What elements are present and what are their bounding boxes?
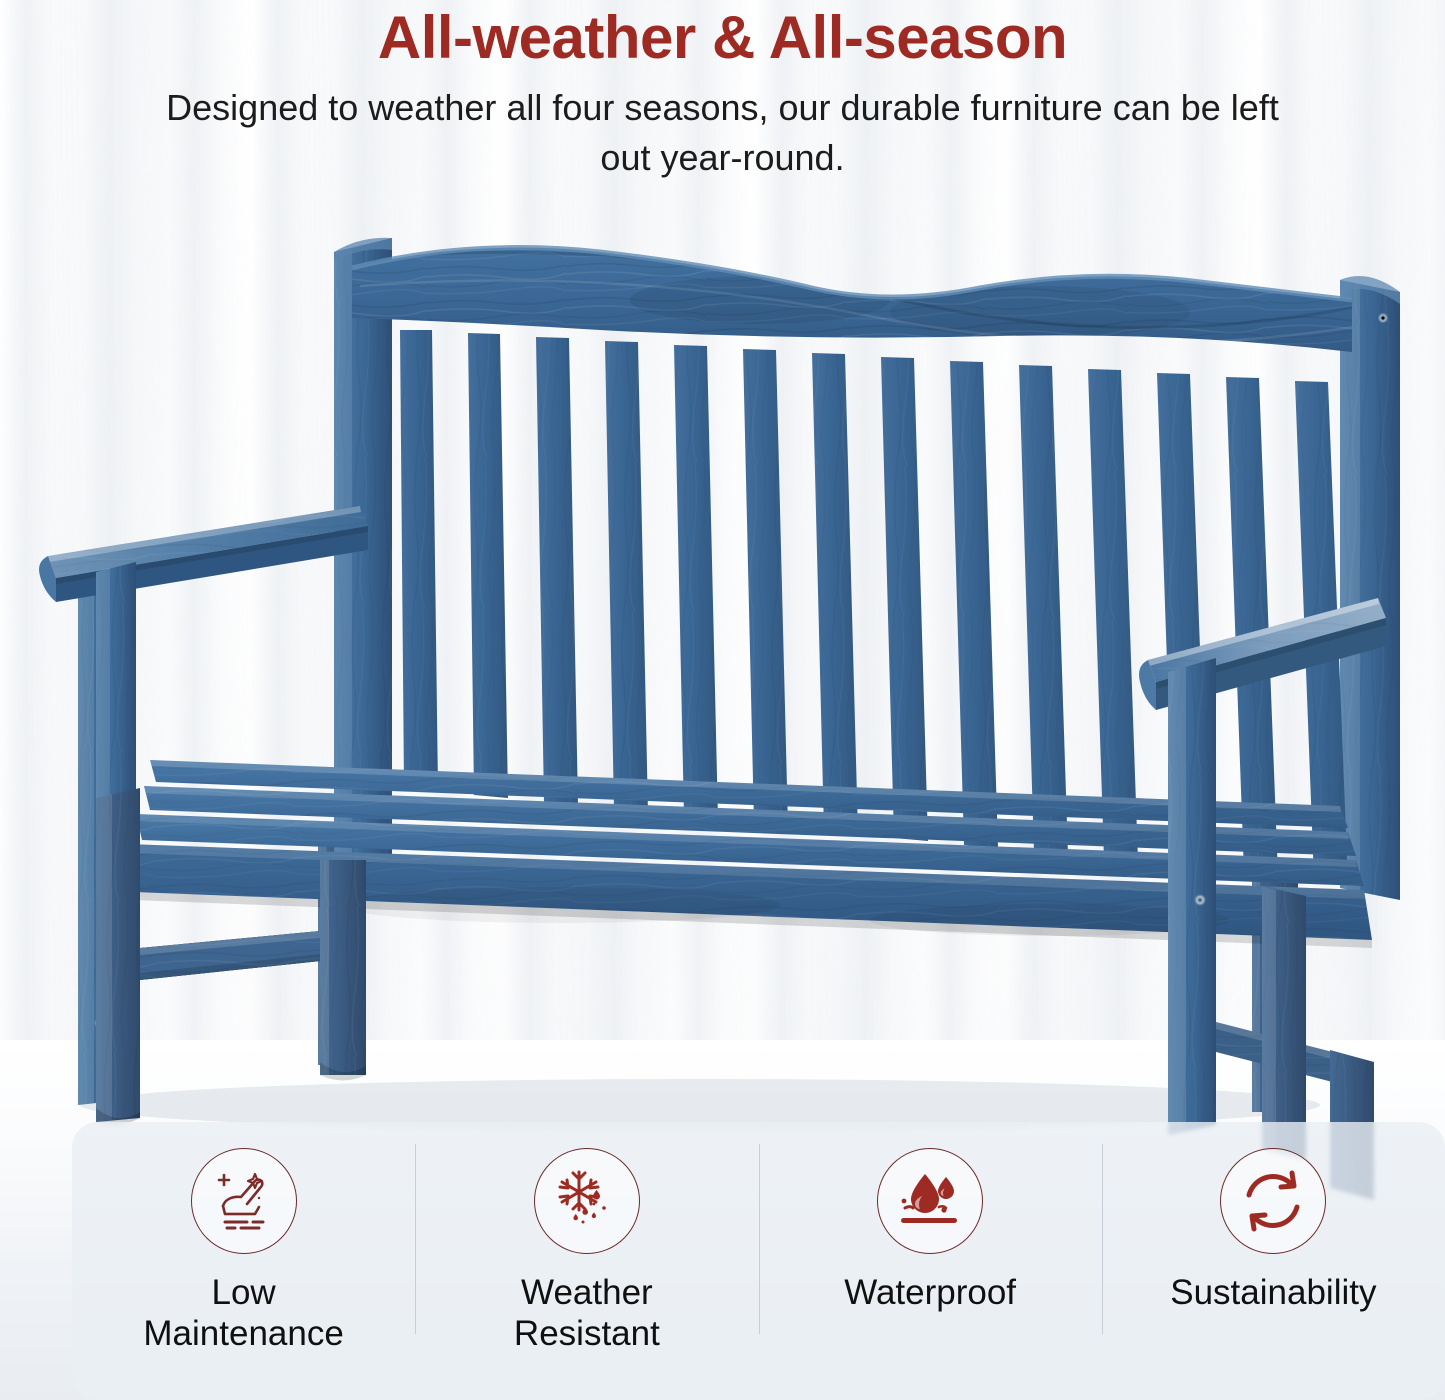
feature-label: Sustainability <box>1170 1272 1376 1313</box>
header-block: All-weather & All-season Designed to wea… <box>0 0 1445 182</box>
feature-label: Low Maintenance <box>143 1272 343 1355</box>
page-title: All-weather & All-season <box>0 0 1445 69</box>
feature-low-maintenance[interactable]: Low Maintenance <box>72 1122 415 1400</box>
hand-wiping-surface-icon <box>191 1148 297 1254</box>
feature-label: Weather Resistant <box>514 1272 660 1355</box>
feature-label: Waterproof <box>844 1272 1016 1313</box>
feature-waterproof[interactable]: Waterproof <box>759 1122 1102 1400</box>
recycle-arrows-icon <box>1220 1148 1326 1254</box>
page-subtitle: Designed to weather all four seasons, ou… <box>163 83 1283 182</box>
water-droplets-repel-icon <box>877 1148 983 1254</box>
snowflake-raindrops-icon <box>534 1148 640 1254</box>
feature-weather-resistant[interactable]: Weather Resistant <box>415 1122 758 1400</box>
product-marketing-image: All-weather & All-season Designed to wea… <box>0 0 1445 1400</box>
feature-panel: Low Maintenance <box>72 1122 1445 1400</box>
feature-sustainability[interactable]: Sustainability <box>1102 1122 1445 1400</box>
